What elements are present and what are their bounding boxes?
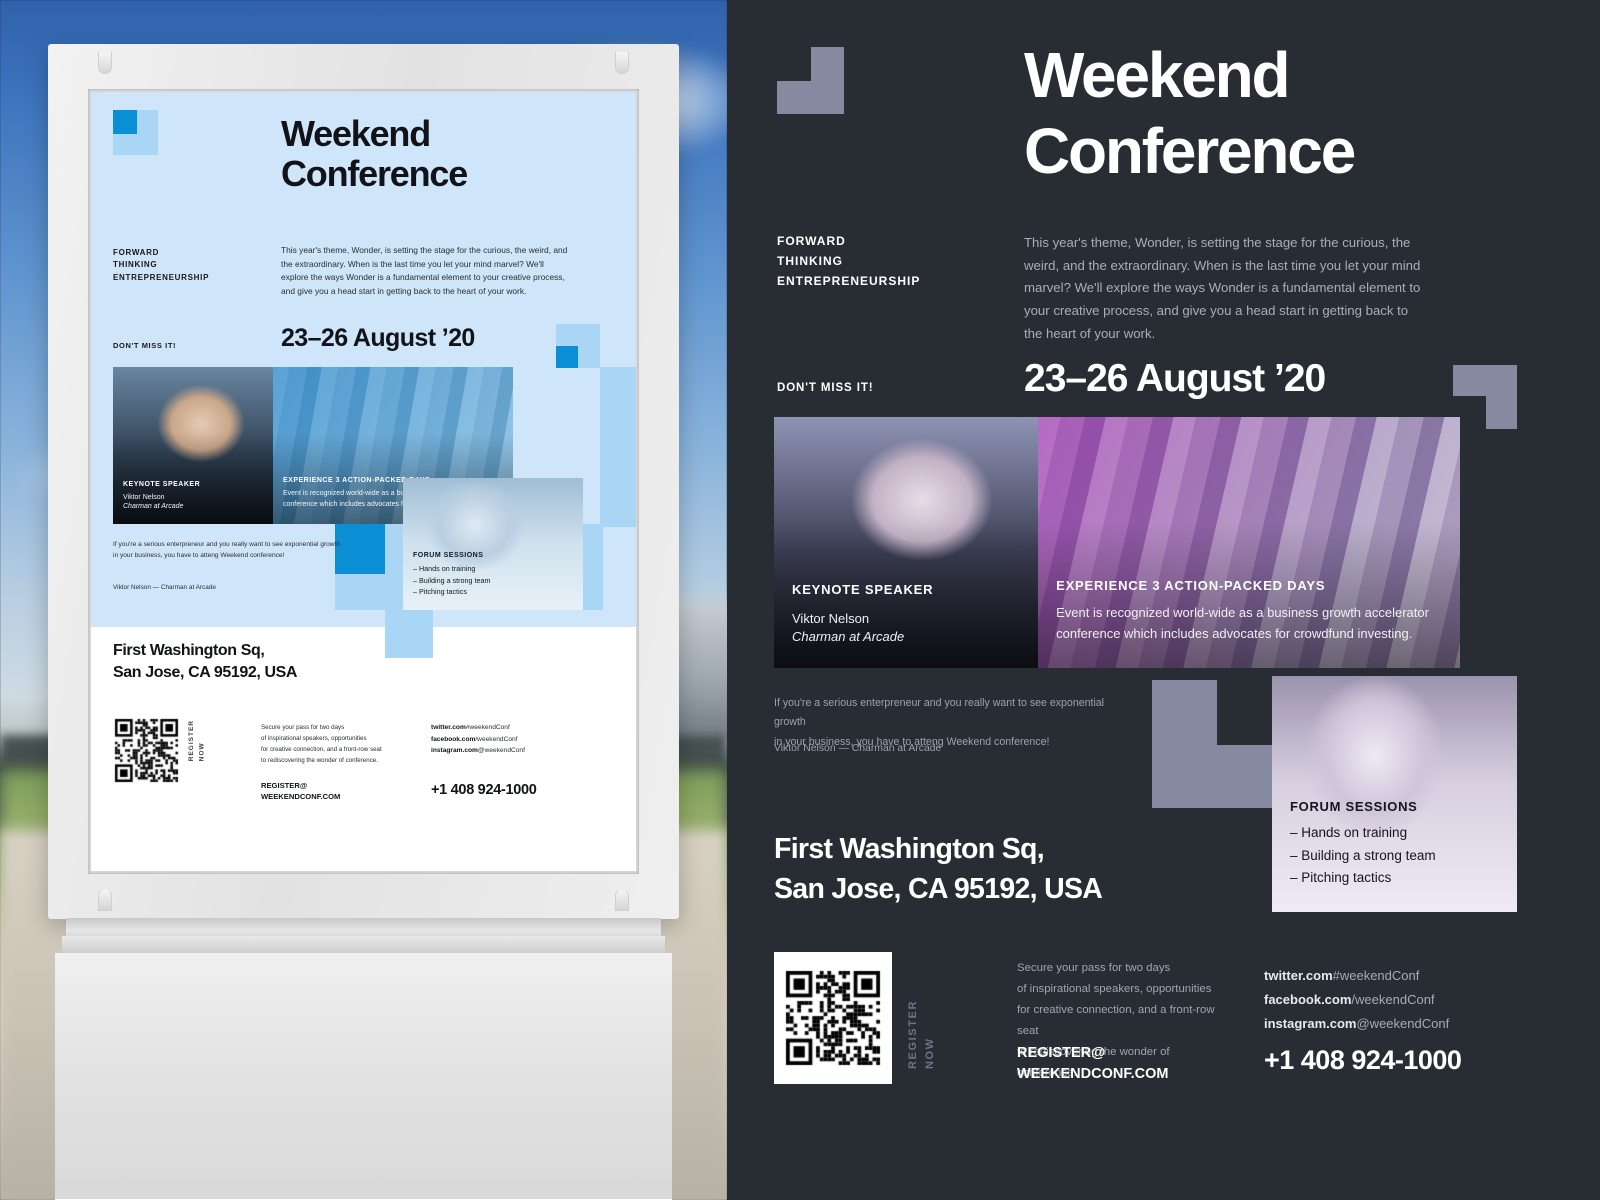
secure-pass-text: Secure your pass for two days of inspira… (261, 722, 411, 766)
page-title: Weekend Conference (281, 114, 621, 195)
keynote-name: Viktor Nelson (123, 493, 200, 504)
address-line-2: San Jose, CA 95192, USA (774, 870, 1102, 910)
social-handle: #weekendConf (1333, 968, 1420, 983)
quote-attribution: Viktor Nelson — Charman at Arcade (113, 584, 216, 591)
qr-register-label: REGISTER NOW (905, 1000, 939, 1069)
quote-line-1: If you're a serious enterpreneur and you… (113, 539, 373, 550)
venue-address: First Washington Sq, San Jose, CA 95192,… (113, 640, 297, 683)
qr-label-line-2: NOW (924, 1037, 936, 1069)
billboard-base-stand (55, 953, 672, 1200)
forum-item: – Building a strong team (413, 575, 491, 587)
experience-line-1: Event is recognized world-wide as a busi… (1056, 602, 1446, 623)
title-line-1: Weekend (281, 114, 621, 154)
social-link-twitter[interactable]: twitter.com#weekendConf (1264, 964, 1449, 988)
event-date: 23–26 August ’20 (281, 324, 475, 353)
social-link-instagram[interactable]: instagram.com@weekendConf (1264, 1012, 1449, 1036)
secure-line: for creative connection, and a front-row… (1017, 1000, 1232, 1042)
forum-item: – Hands on training (1290, 822, 1436, 845)
tagline-line-3: ENTREPRENEURSHIP (777, 272, 920, 292)
secure-line: Secure your pass for two days (261, 722, 411, 733)
forum-heading: FORUM SESSIONS (413, 552, 491, 559)
register-email[interactable]: REGISTER@ WEEKENDCONF.COM (1017, 1043, 1168, 1085)
register-email[interactable]: REGISTER@ WEEKENDCONF.COM (261, 780, 340, 802)
keynote-name: Viktor Nelson (792, 608, 933, 629)
qr-label-line-1: REGISTER (907, 1000, 919, 1069)
register-email-line-1: REGISTER@ (261, 780, 340, 791)
secure-line: Secure your pass for two days (1017, 958, 1232, 979)
secure-line: of inspirational speakers, opportunities (1017, 979, 1232, 1000)
qr-code[interactable] (113, 717, 180, 784)
social-link-instagram[interactable]: instagram.com@weekendConf (431, 745, 525, 757)
social-link-facebook[interactable]: facebook.com/weekendConf (431, 734, 525, 746)
address-line-1: First Washington Sq, (113, 640, 297, 662)
keynote-role: Charman at Arcade (123, 503, 200, 510)
forum-item: – Pitching tactics (1290, 867, 1436, 890)
page-title: Weekend Conference (1024, 38, 1544, 189)
social-domain: twitter.com (431, 724, 466, 731)
tagline: FORWARD THINKING ENTREPRENEURSHIP (113, 247, 209, 284)
venue-address: First Washington Sq, San Jose, CA 95192,… (774, 830, 1102, 910)
keynote-speaker-photo: KEYNOTE SPEAKER Viktor Nelson Charman at… (113, 367, 273, 524)
forum-sessions-text: FORUM SESSIONS – Hands on training – Bui… (1290, 799, 1436, 890)
qr-label-line-1: REGISTER (188, 720, 195, 761)
social-domain: instagram.com (431, 747, 478, 754)
address-line-1: First Washington Sq, (774, 830, 1102, 870)
dont-miss-label: DON'T MISS IT! (777, 382, 873, 394)
social-domain: instagram.com (1264, 1016, 1356, 1031)
social-link-facebook[interactable]: facebook.com/weekendConf (1264, 988, 1449, 1012)
title-line-1: Weekend (1024, 38, 1544, 114)
experience-heading: EXPERIENCE 3 ACTION-PACKED DAYS (1056, 578, 1446, 593)
forum-item: – Building a strong team (1290, 845, 1436, 868)
frame-clip-icon (98, 52, 112, 74)
contact-phone[interactable]: +1 408 924-1000 (431, 782, 537, 798)
social-link-twitter[interactable]: twitter.com#weekendConf (431, 722, 525, 734)
forum-item: – Hands on training (413, 563, 491, 575)
social-domain: facebook.com (1264, 992, 1351, 1007)
frame-clip-icon (98, 889, 112, 911)
keynote-heading: KEYNOTE SPEAKER (123, 481, 200, 488)
tagline-line-2: THINKING (777, 252, 920, 272)
forum-sessions-text: FORUM SESSIONS – Hands on training – Bui… (413, 552, 491, 598)
qr-code[interactable] (774, 952, 892, 1084)
experience-photo: EXPERIENCE 3 ACTION-PACKED DAYS Event is… (1038, 417, 1460, 668)
register-email-line-2: WEEKENDCONF.COM (261, 791, 340, 802)
social-handle: #weekendConf (466, 724, 510, 731)
secure-line: for creative connection, and a front-row… (261, 744, 411, 755)
step-square-logo-icon (777, 47, 844, 114)
tagline-line-2: THINKING (113, 259, 209, 271)
poster-light-variant: Weekend Conference FORWARD THINKING ENTR… (91, 92, 636, 871)
billboard-mockup-panel: Weekend Conference FORWARD THINKING ENTR… (0, 0, 727, 1200)
title-line-2: Conference (281, 154, 621, 194)
forum-heading: FORUM SESSIONS (1290, 799, 1436, 814)
quote-attribution: Viktor Nelson — Charman at Arcade (774, 743, 941, 754)
dont-miss-label: DON'T MISS IT! (113, 341, 176, 350)
decor-square-light (385, 610, 433, 658)
logo-mark-square-accent (113, 110, 137, 134)
social-domain: twitter.com (1264, 968, 1333, 983)
experience-line-2: conference which includes advocates for … (1056, 623, 1446, 644)
title-line-2: Conference (1024, 114, 1544, 190)
poster-dark-panel: Weekend Conference FORWARD THINKING ENTR… (727, 0, 1600, 1200)
billboard-frame: Weekend Conference FORWARD THINKING ENTR… (48, 44, 679, 919)
secure-line: of inspirational speakers, opportunities (261, 733, 411, 744)
social-handle: /weekendConf (475, 736, 517, 743)
forum-sessions-card: FORUM SESSIONS – Hands on training – Bui… (1272, 676, 1517, 912)
poster-showcase: Weekend Conference FORWARD THINKING ENTR… (0, 0, 1600, 1200)
address-line-2: San Jose, CA 95192, USA (113, 662, 297, 684)
decor-step-square-icon (1453, 365, 1517, 429)
keynote-role: Charman at Arcade (792, 629, 933, 644)
social-links: twitter.com#weekendConf facebook.com/wee… (1264, 964, 1449, 1036)
frame-clip-icon (615, 52, 629, 74)
keynote-heading: KEYNOTE SPEAKER (792, 582, 933, 597)
tagline: FORWARD THINKING ENTREPRENEURSHIP (777, 232, 920, 292)
tagline-line-1: FORWARD (777, 232, 920, 252)
photo-strip: KEYNOTE SPEAKER Viktor Nelson Charman at… (774, 417, 1460, 668)
billboard-screen: Weekend Conference FORWARD THINKING ENTR… (91, 92, 636, 871)
social-handle: /weekendConf (1351, 992, 1434, 1007)
keynote-speaker-photo: KEYNOTE SPEAKER Viktor Nelson Charman at… (774, 417, 1038, 668)
social-links: twitter.com#weekendConf facebook.com/wee… (431, 722, 525, 757)
register-email-line-1: REGISTER@ (1017, 1043, 1168, 1064)
qr-label-line-2: NOW (198, 742, 205, 761)
decor-square-accent (556, 346, 578, 368)
forum-item: – Pitching tactics (413, 586, 491, 598)
qr-register-label: REGISTER NOW (187, 720, 208, 761)
forum-sessions-card: FORUM SESSIONS – Hands on training – Bui… (403, 478, 583, 610)
tagline-line-1: FORWARD (113, 247, 209, 259)
decor-band-light (600, 367, 636, 527)
billboard-inner-frame: Weekend Conference FORWARD THINKING ENTR… (88, 89, 639, 874)
event-date: 23–26 August ’20 (1024, 357, 1325, 401)
testimonial-quote: If you're a serious enterpreneur and you… (113, 539, 373, 561)
tagline-line-3: ENTREPRENEURSHIP (113, 272, 209, 284)
social-handle: @weekendConf (478, 747, 525, 754)
quote-line-2: in your business, you have to atteng Wee… (113, 550, 373, 561)
intro-paragraph: This year's theme, Wonder, is setting th… (1024, 232, 1424, 346)
frame-clip-icon (615, 889, 629, 911)
contact-phone[interactable]: +1 408 924-1000 (1264, 1045, 1461, 1076)
register-email-line-2: WEEKENDCONF.COM (1017, 1064, 1168, 1085)
social-handle: @weekendConf (1356, 1016, 1449, 1031)
photo-gradient-overlay (113, 433, 273, 524)
social-domain: facebook.com (431, 736, 475, 743)
secure-line: to rediscovering the wonder of conferenc… (261, 755, 411, 766)
quote-line-1: If you're a serious enterpreneur and you… (774, 694, 1134, 733)
intro-paragraph: This year's theme, Wonder, is setting th… (281, 244, 571, 298)
